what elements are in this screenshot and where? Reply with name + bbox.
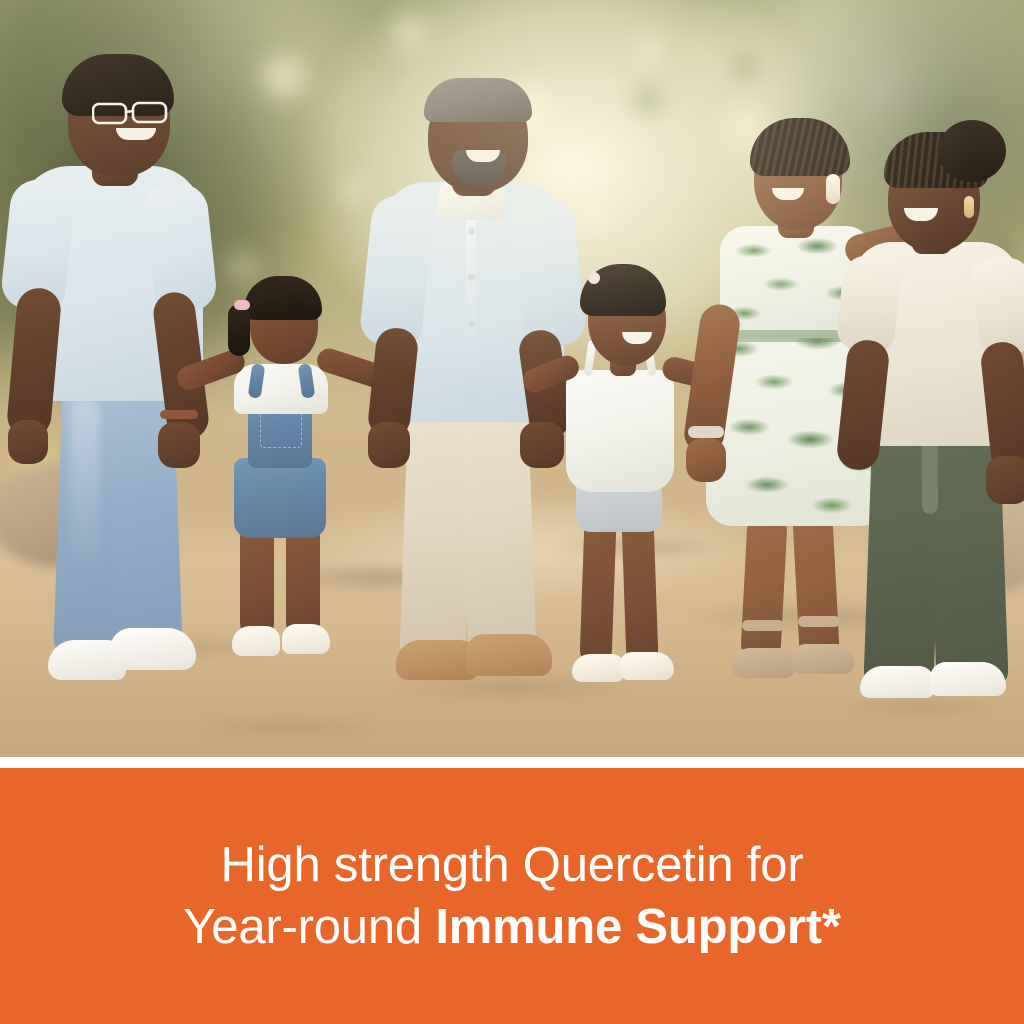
photo-banner-divider bbox=[0, 757, 1024, 768]
girl-sandal-left bbox=[572, 654, 624, 682]
toddler-leg-left bbox=[240, 520, 274, 640]
older-man-hand-left bbox=[368, 422, 410, 468]
older-woman-shoe-left bbox=[860, 666, 934, 698]
woman-cornrows bbox=[750, 118, 850, 176]
girl-hair-bead bbox=[588, 272, 600, 284]
woman-ankle-strap-right bbox=[798, 616, 840, 627]
person-toddler-girl bbox=[210, 330, 360, 730]
banner-line-2-prefix: Year-round bbox=[183, 900, 435, 954]
young-man-jeans-highlight bbox=[70, 398, 100, 578]
banner-asterisk: * bbox=[822, 900, 841, 954]
woman-leg-left bbox=[740, 511, 788, 663]
young-man-shoe-right bbox=[110, 628, 196, 670]
older-woman-hand-right bbox=[986, 456, 1024, 504]
older-man-shoe-right bbox=[466, 634, 552, 676]
woman-watch bbox=[688, 426, 724, 438]
girl-camisole bbox=[566, 370, 674, 492]
young-man-smile bbox=[116, 128, 156, 140]
toddler-sandal-left bbox=[232, 626, 280, 656]
older-woman-earring bbox=[964, 196, 974, 218]
girl-sandal-right bbox=[620, 652, 674, 680]
woman-earring bbox=[826, 174, 840, 204]
banner-line-2: Year-round Immune Support* bbox=[183, 896, 840, 958]
woman-sandal-left bbox=[732, 648, 794, 678]
person-young-man bbox=[0, 48, 240, 748]
young-man-glasses-icon bbox=[92, 100, 178, 126]
claim-banner: High strength Quercetin for Year-round I… bbox=[0, 768, 1024, 1024]
person-girl-child bbox=[548, 258, 718, 738]
young-man-arm-left bbox=[6, 286, 63, 439]
young-man-bracelet bbox=[160, 410, 198, 419]
girl-leg-right bbox=[621, 513, 658, 666]
marketing-image: High strength Quercetin for Year-round I… bbox=[0, 0, 1024, 1024]
older-woman-hair-bun bbox=[938, 120, 1006, 182]
older-man-shirt-button-1 bbox=[468, 228, 475, 235]
girl-leg-left bbox=[579, 515, 616, 666]
older-man-hair bbox=[424, 78, 532, 122]
banner-line-1: High strength Quercetin for bbox=[221, 834, 804, 896]
person-older-woman bbox=[846, 128, 1024, 748]
lifestyle-photo bbox=[0, 0, 1024, 757]
banner-line-2-emphasis: Immune Support bbox=[435, 900, 821, 954]
young-man-hand-left bbox=[8, 420, 48, 464]
woman-leg-right bbox=[792, 505, 840, 663]
older-woman-shoe-right bbox=[930, 662, 1006, 696]
toddler-ponytail bbox=[228, 304, 250, 356]
toddler-hair-tie bbox=[234, 300, 250, 310]
older-man-shirt-button-2 bbox=[468, 274, 475, 281]
woman-ankle-strap-left bbox=[742, 620, 784, 631]
woman-hand-left bbox=[686, 438, 726, 482]
older-man-shirt-button-3 bbox=[468, 320, 475, 327]
young-man-hand-right bbox=[158, 422, 200, 468]
toddler-sandal-right bbox=[282, 624, 330, 654]
woman-sandal-right bbox=[792, 644, 854, 674]
toddler-overall-shorts bbox=[234, 458, 326, 538]
